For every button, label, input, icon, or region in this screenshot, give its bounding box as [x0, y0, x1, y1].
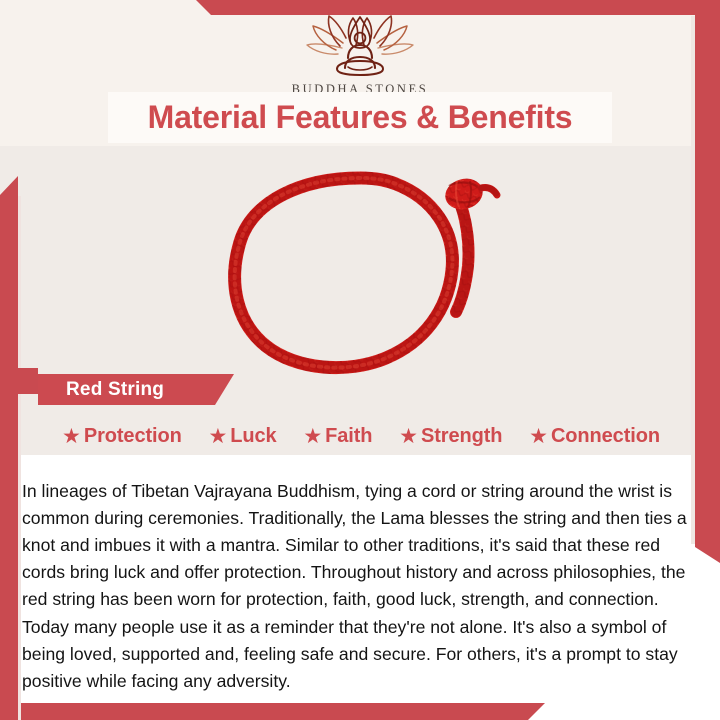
star-icon: ★ — [529, 426, 548, 447]
star-icon: ★ — [62, 426, 81, 447]
section-label-banner: Red String — [38, 374, 234, 405]
product-image — [0, 150, 720, 378]
star-icon: ★ — [399, 426, 418, 447]
red-braided-cord-bracelet-icon — [0, 150, 720, 378]
star-icon: ★ — [303, 426, 322, 447]
benefit-label: Luck — [230, 425, 276, 448]
benefit-label: Protection — [84, 425, 182, 448]
brand-logo: BUDDHA STONES — [0, 14, 720, 97]
benefit-label: Connection — [551, 425, 660, 448]
star-icon: ★ — [208, 426, 227, 447]
description-paragraph: In lineages of Tibetan Vajrayana Buddhis… — [22, 478, 698, 696]
benefits-row: ★ Protection ★ Luck ★ Faith ★ Strength ★… — [22, 421, 698, 451]
benefit-item: ★ Protection — [62, 425, 182, 448]
lotus-meditation-icon — [0, 14, 720, 81]
page-title: Material Features & Benefits — [148, 99, 573, 136]
decorative-band-bottom — [0, 703, 560, 720]
benefit-item: ★ Faith — [303, 425, 372, 448]
benefit-item: ★ Connection — [529, 425, 660, 448]
page-title-box: Material Features & Benefits — [108, 92, 612, 143]
benefit-item: ★ Strength — [399, 425, 502, 448]
benefit-label: Faith — [325, 425, 372, 448]
benefit-label: Strength — [421, 425, 502, 448]
infographic-page: BUDDHA STONES Material Features & Benefi… — [0, 0, 720, 720]
benefit-item: ★ Luck — [208, 425, 276, 448]
section-label: Red String — [38, 379, 164, 401]
